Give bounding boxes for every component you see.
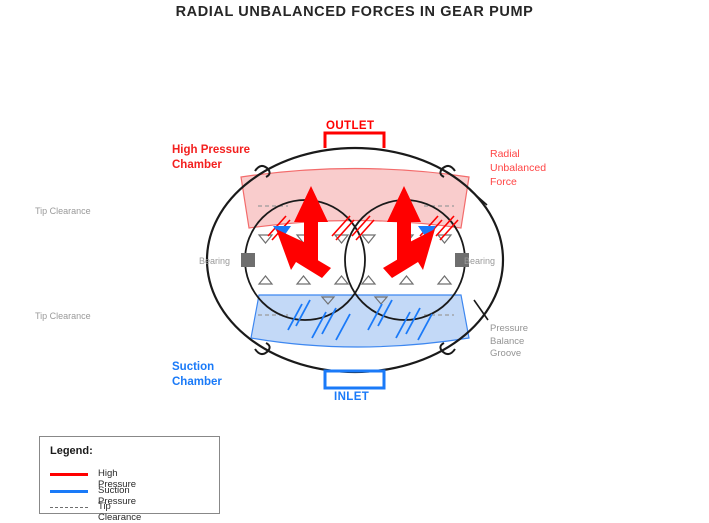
label-bearing-right: Bearing (464, 256, 495, 268)
label-radial-unbalanced-force: Radial Unbalanced Force (490, 148, 546, 190)
label-tip-clearance-lower: Tip Clearance (35, 311, 91, 323)
label-inlet-port: INLET (334, 390, 369, 405)
legend-label-tip-clearance: Tip Clearance (98, 501, 141, 523)
label-suction-chamber: Suction Chamber (172, 360, 222, 391)
radial-force-arrow-left-diagonal (276, 229, 331, 278)
legend-title: Legend: (50, 445, 93, 457)
suction-chamber-region (251, 295, 469, 347)
label-tip-clearance-upper: Tip Clearance (35, 206, 91, 218)
legend-swatch-high-pressure (50, 473, 88, 476)
leader-line-radial-force (470, 190, 487, 205)
outlet-port (325, 133, 384, 148)
label-high-pressure-chamber: High Pressure Chamber (172, 143, 250, 174)
label-outlet-port: OUTLET (326, 119, 374, 134)
leader-line-pressure-groove (474, 300, 488, 320)
label-bearing-left: Bearing (199, 256, 230, 268)
legend-swatch-suction-pressure (50, 490, 88, 493)
legend-box: Legend: High Pressure Suction Pressure T… (39, 436, 220, 514)
label-pressure-balance-groove: Pressure Balance Groove (490, 323, 528, 361)
bearing-left-block (241, 253, 255, 267)
legend-swatch-tip-clearance (50, 507, 88, 508)
inlet-port (325, 371, 384, 388)
